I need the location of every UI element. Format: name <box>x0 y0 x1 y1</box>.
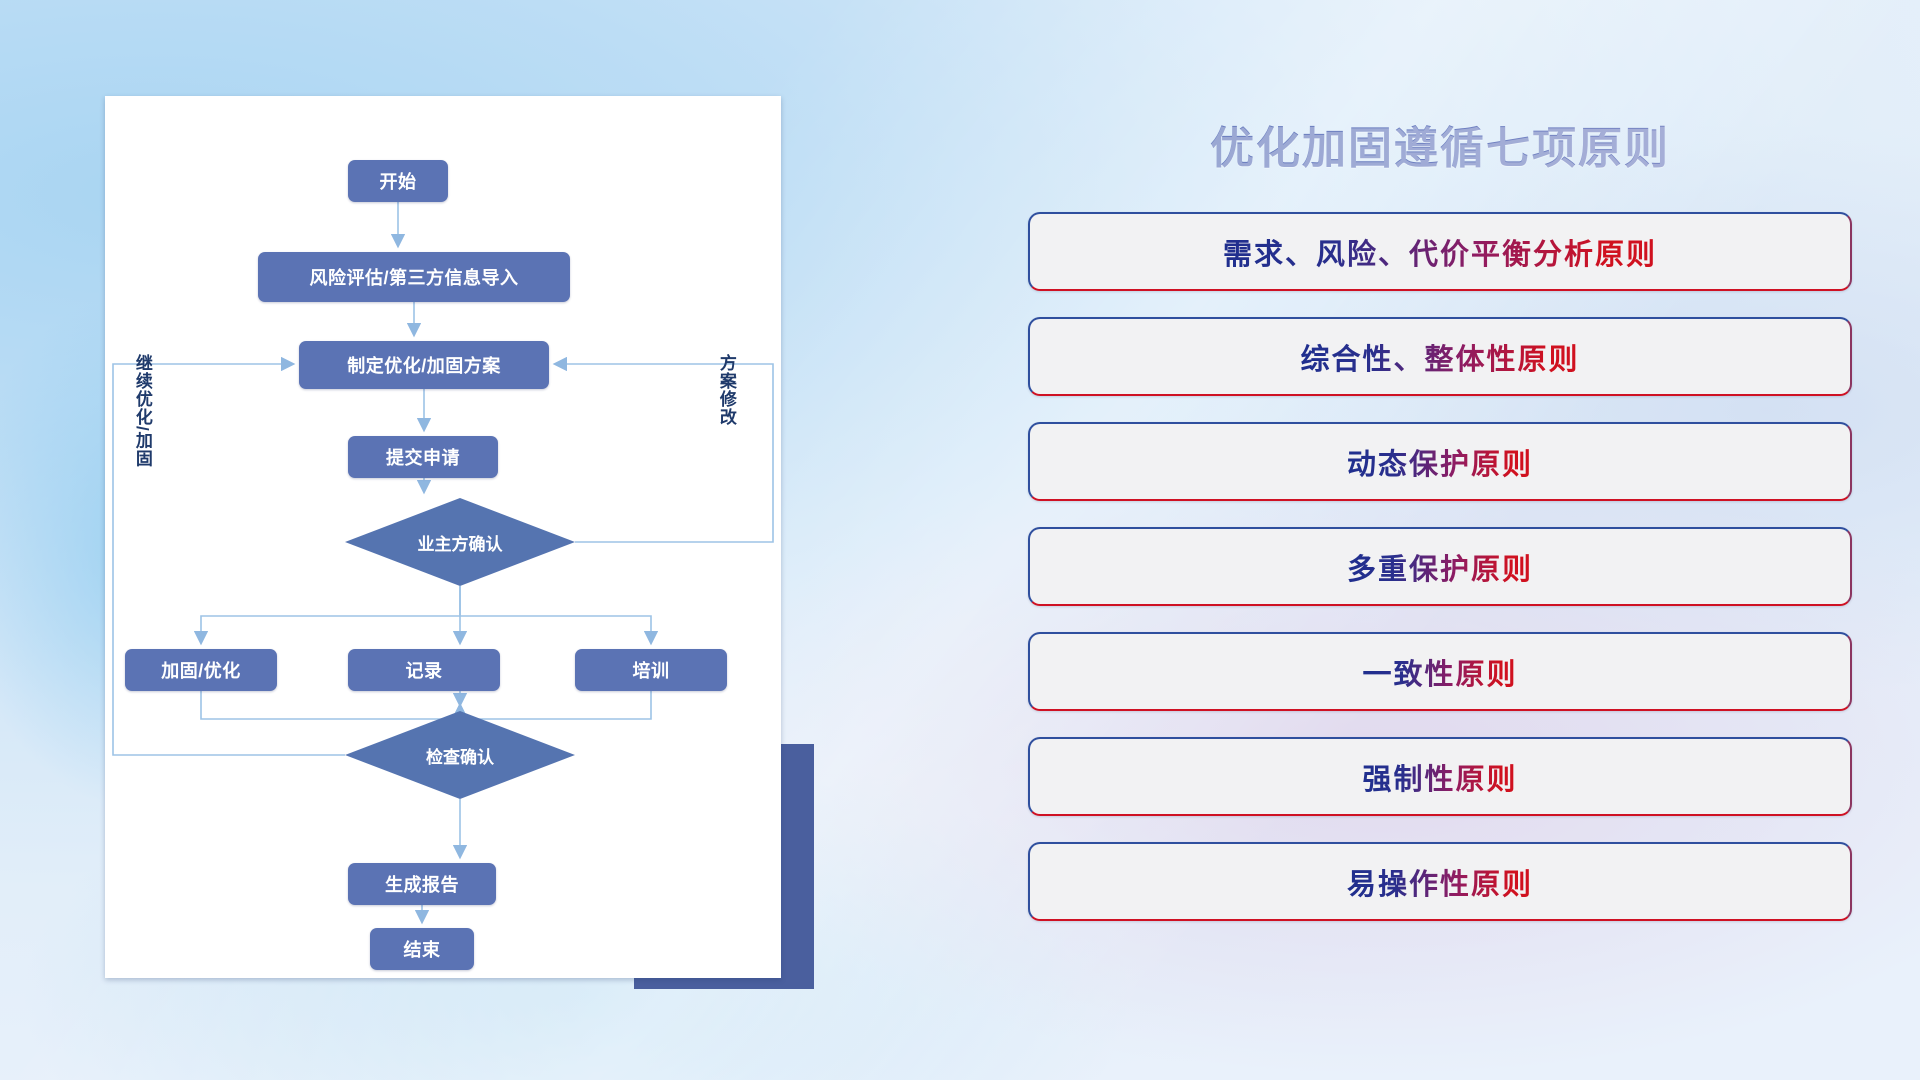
flow-node-record-label: 记录 <box>406 657 443 683</box>
flow-node-start[interactable]: 开始 <box>348 160 448 202</box>
flow-edge-label-left-loop: 继续优化/加固 <box>133 354 151 468</box>
flow-decision-owner-confirm-label: 业主方确认 <box>418 530 503 555</box>
flow-edge-label-right-loop: 方案修改 <box>717 354 735 426</box>
principle-card[interactable]: 强制性原则 <box>1028 737 1852 816</box>
flowchart-card: 开始 风险评估/第三方信息导入 制定优化/加固方案 提交申请 业主方确认 加固/… <box>105 96 781 978</box>
principle-label: 一致性原则 <box>1362 651 1517 693</box>
flow-node-report-label: 生成报告 <box>385 871 459 897</box>
flow-decision-check-confirm-label: 检查确认 <box>426 743 494 768</box>
principle-card[interactable]: 多重保护原则 <box>1028 527 1852 606</box>
principles-panel: 优化加固遵循七项原则 需求、风险、代价平衡分析原则 综合性、整体性原则 动态保护… <box>1020 96 1860 1016</box>
flow-node-end[interactable]: 结束 <box>370 928 474 970</box>
principle-card[interactable]: 易操作性原则 <box>1028 842 1852 921</box>
flow-node-record[interactable]: 记录 <box>348 649 500 691</box>
principle-card[interactable]: 需求、风险、代价平衡分析原则 <box>1028 212 1852 291</box>
principle-card[interactable]: 动态保护原则 <box>1028 422 1852 501</box>
principle-label: 易操作性原则 <box>1347 861 1533 903</box>
principle-card[interactable]: 一致性原则 <box>1028 632 1852 711</box>
flow-node-reinforce[interactable]: 加固/优化 <box>125 649 277 691</box>
flowchart-canvas: 开始 风险评估/第三方信息导入 制定优化/加固方案 提交申请 业主方确认 加固/… <box>105 96 781 978</box>
principle-label: 动态保护原则 <box>1347 441 1533 483</box>
flow-node-reinforce-label: 加固/优化 <box>161 657 241 683</box>
flow-node-start-label: 开始 <box>380 168 417 194</box>
flow-node-submit[interactable]: 提交申请 <box>348 436 498 478</box>
flow-decision-check-confirm[interactable]: 检查确认 <box>345 711 575 799</box>
principle-label: 多重保护原则 <box>1347 546 1533 588</box>
flow-node-make-plan[interactable]: 制定优化/加固方案 <box>299 341 549 389</box>
flow-node-submit-label: 提交申请 <box>386 444 460 470</box>
principle-label: 强制性原则 <box>1362 756 1517 798</box>
flow-node-end-label: 结束 <box>404 936 441 962</box>
flow-node-risk-assessment[interactable]: 风险评估/第三方信息导入 <box>258 252 570 302</box>
flow-node-risk-assessment-label: 风险评估/第三方信息导入 <box>310 264 519 290</box>
principles-list: 需求、风险、代价平衡分析原则 综合性、整体性原则 动态保护原则 多重保护原则 一… <box>1028 212 1852 947</box>
principle-label: 综合性、整体性原则 <box>1300 336 1579 378</box>
flow-decision-owner-confirm[interactable]: 业主方确认 <box>345 498 575 586</box>
flow-node-training[interactable]: 培训 <box>575 649 727 691</box>
principle-card[interactable]: 综合性、整体性原则 <box>1028 317 1852 396</box>
principle-label: 需求、风险、代价平衡分析原则 <box>1223 231 1657 273</box>
flow-node-report[interactable]: 生成报告 <box>348 863 496 905</box>
flow-node-training-label: 培训 <box>633 657 670 683</box>
flow-node-make-plan-label: 制定优化/加固方案 <box>347 352 501 378</box>
panel-title: 优化加固遵循七项原则 <box>1020 112 1860 176</box>
